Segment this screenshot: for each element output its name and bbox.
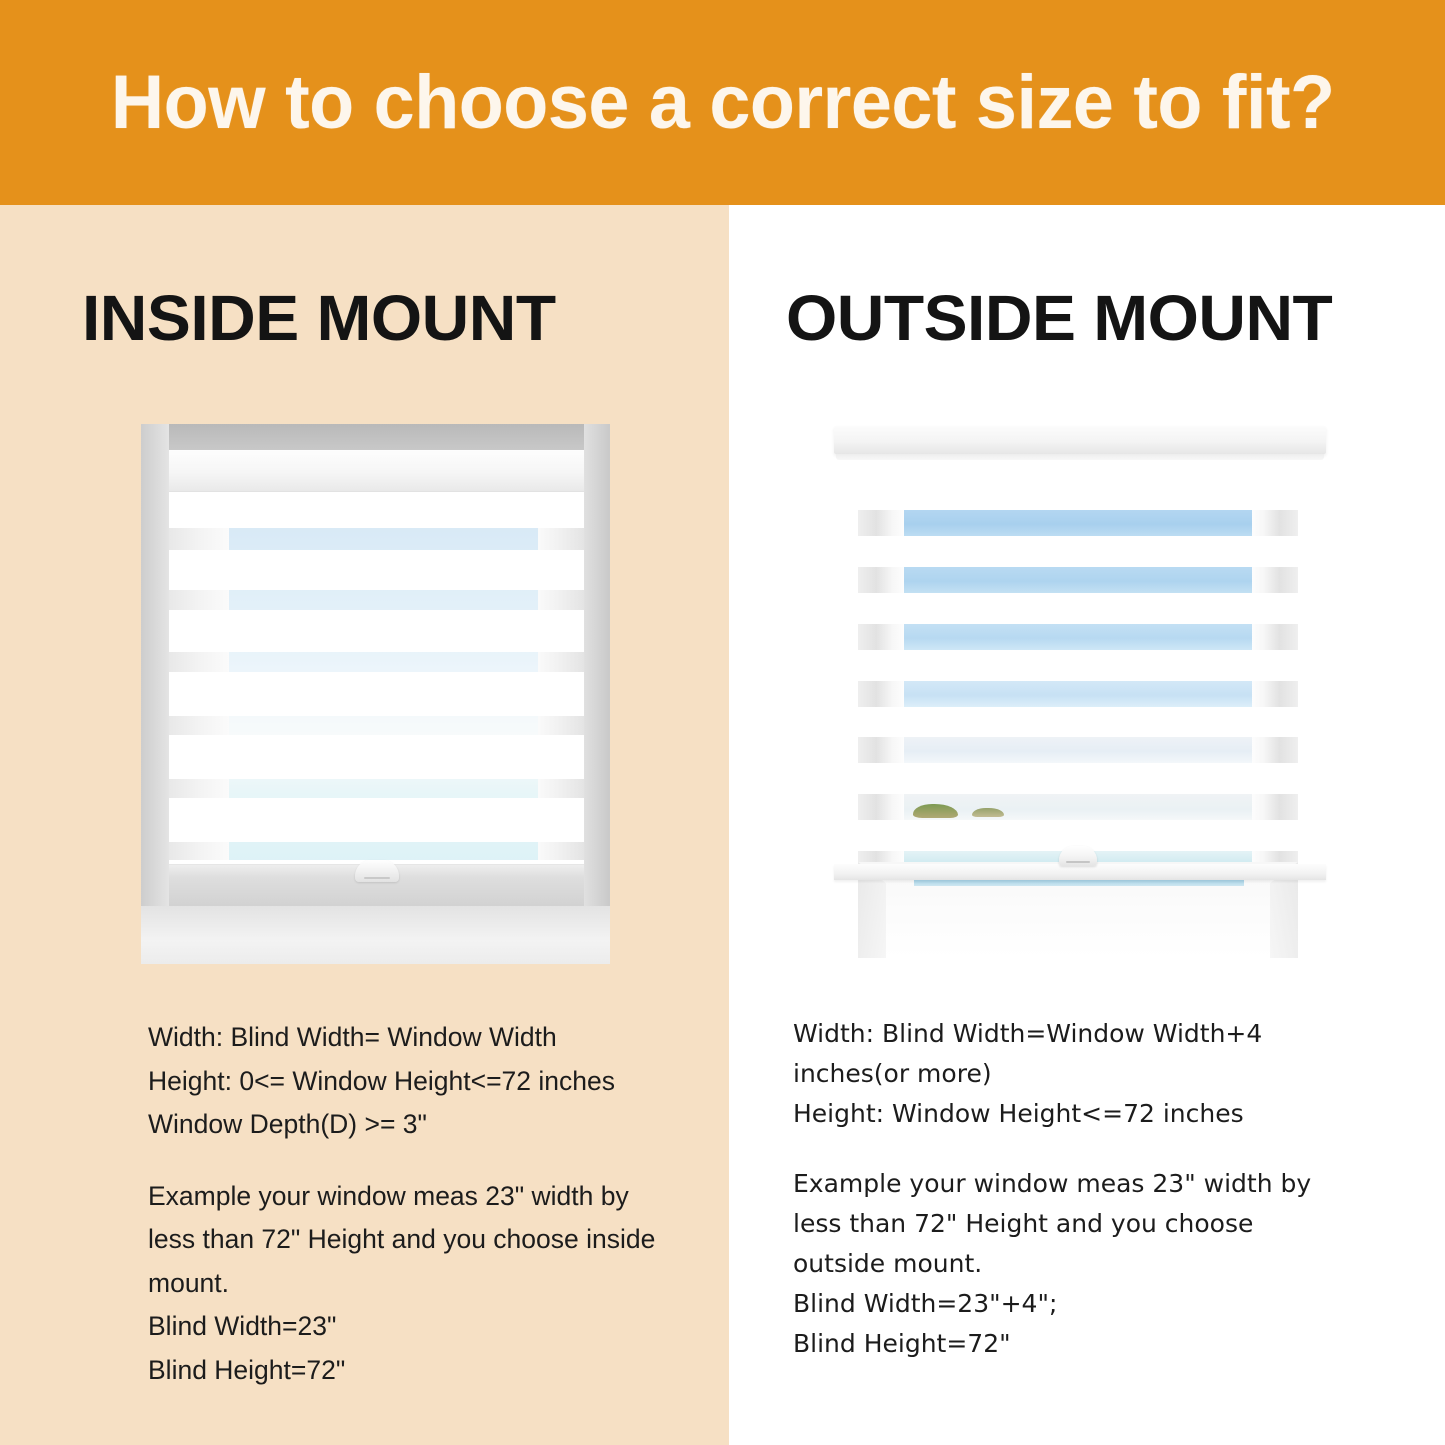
page-title: How to choose a correct size to fit? [111, 59, 1335, 146]
inside-mount-text-block: Width: Blind Width= Window Width Height:… [148, 1016, 708, 1392]
window-sill [141, 906, 610, 964]
blind-sheer [169, 652, 584, 672]
blind-headrail [169, 450, 584, 492]
outside-mount-text-block: Width: Blind Width=Window Width+4 inches… [793, 1014, 1353, 1364]
blind-band [169, 492, 584, 528]
slat-cap-left [858, 567, 904, 593]
blind-band [169, 798, 584, 842]
blind-edge-tab [538, 652, 584, 672]
window-sill [834, 864, 1326, 880]
slat-cap-right [1252, 624, 1298, 650]
blind-edge-tab [169, 716, 229, 735]
blind-edge-tab [538, 779, 584, 798]
blind-edge-tab [538, 528, 584, 550]
inside-spec-line: Height: 0<= Window Height<=72 inches [148, 1060, 708, 1104]
blind-slat [858, 567, 1298, 593]
window-opening [169, 450, 584, 906]
outside-spec-line: Height: Window Height<=72 inches [793, 1094, 1353, 1134]
outside-spec-line: Width: Blind Width=Window Width+4 [793, 1014, 1353, 1054]
slat-cap-left [858, 624, 904, 650]
outside-example-line: Blind Width=23"+4"; [793, 1284, 1353, 1324]
blind-edge-tab [538, 716, 584, 735]
window-handle-icon [355, 860, 399, 882]
blind-slat [858, 510, 1298, 536]
blind-edge-tab [169, 652, 229, 672]
slat-glass [902, 737, 1254, 763]
blind-sheer [169, 779, 584, 798]
blind-sheer [169, 842, 584, 860]
inside-mount-heading: INSIDE MOUNT [82, 281, 556, 355]
inside-example-line: Blind Width=23" [148, 1305, 708, 1349]
slat-cap-right [1252, 794, 1298, 820]
slat-glass [902, 510, 1254, 536]
window-left-jamb [141, 424, 169, 964]
outside-example-line: Blind Height=72" [793, 1324, 1353, 1364]
header-band: How to choose a correct size to fit? [0, 0, 1445, 205]
slat-cap-left [858, 737, 904, 763]
blind-slat [858, 681, 1298, 707]
blind-edge-tab [169, 528, 229, 550]
blind-edge-tab [169, 842, 229, 860]
blind-band [169, 735, 584, 779]
blind-sheer [169, 716, 584, 735]
spacer [148, 1147, 708, 1175]
slat-glass [902, 624, 1254, 650]
slat-glass [902, 567, 1254, 593]
spacer [793, 1134, 1353, 1164]
slat-cap-right [1252, 510, 1298, 536]
outside-example-line: less than 72" Height and you choose [793, 1204, 1353, 1244]
blind-headrail [834, 426, 1326, 454]
blind-slat [858, 794, 1298, 820]
outside-example-line: Example your window meas 23" width by [793, 1164, 1353, 1204]
inside-spec-line: Window Depth(D) >= 3" [148, 1103, 708, 1147]
slat-cap-left [858, 510, 904, 536]
blind-band [169, 550, 584, 590]
slat-cap-right [1252, 567, 1298, 593]
blind-edge-tab [538, 842, 584, 860]
window-top-jamb [141, 424, 610, 450]
inside-spec-line: Width: Blind Width= Window Width [148, 1016, 708, 1060]
outside-example-line: outside mount. [793, 1244, 1353, 1284]
infographic-page: How to choose a correct size to fit? INS… [0, 0, 1445, 1445]
inside-example-line: mount. [148, 1262, 708, 1306]
blind-slat [858, 737, 1298, 763]
blind-slat [858, 624, 1298, 650]
slat-cap-left [858, 794, 904, 820]
blind-band [169, 672, 584, 716]
inside-example-line: Example your window meas 23" width by [148, 1175, 708, 1219]
outside-mount-window-illustration [828, 424, 1328, 964]
inside-example-line: less than 72" Height and you choose insi… [148, 1218, 708, 1262]
slat-glass [902, 681, 1254, 707]
outside-mount-heading: OUTSIDE MOUNT [786, 281, 1332, 355]
blind-sheer [169, 590, 584, 610]
blind-edge-tab [169, 779, 229, 798]
inside-example-line: Blind Height=72" [148, 1349, 708, 1393]
slat-cap-left [858, 681, 904, 707]
slat-cap-right [1252, 681, 1298, 707]
blind-sheer [169, 528, 584, 550]
blind-band [169, 610, 584, 652]
island-shape-icon [913, 804, 959, 818]
blind-edge-tab [538, 590, 584, 610]
island-shape-icon [972, 808, 1004, 818]
inside-mount-window-illustration [141, 424, 610, 964]
outside-spec-line: inches(or more) [793, 1054, 1353, 1094]
slat-glass [902, 794, 1254, 820]
slat-cap-right [1252, 737, 1298, 763]
window-right-jamb [584, 424, 610, 964]
window-handle-icon [1059, 846, 1097, 866]
blind-edge-tab [169, 590, 229, 610]
